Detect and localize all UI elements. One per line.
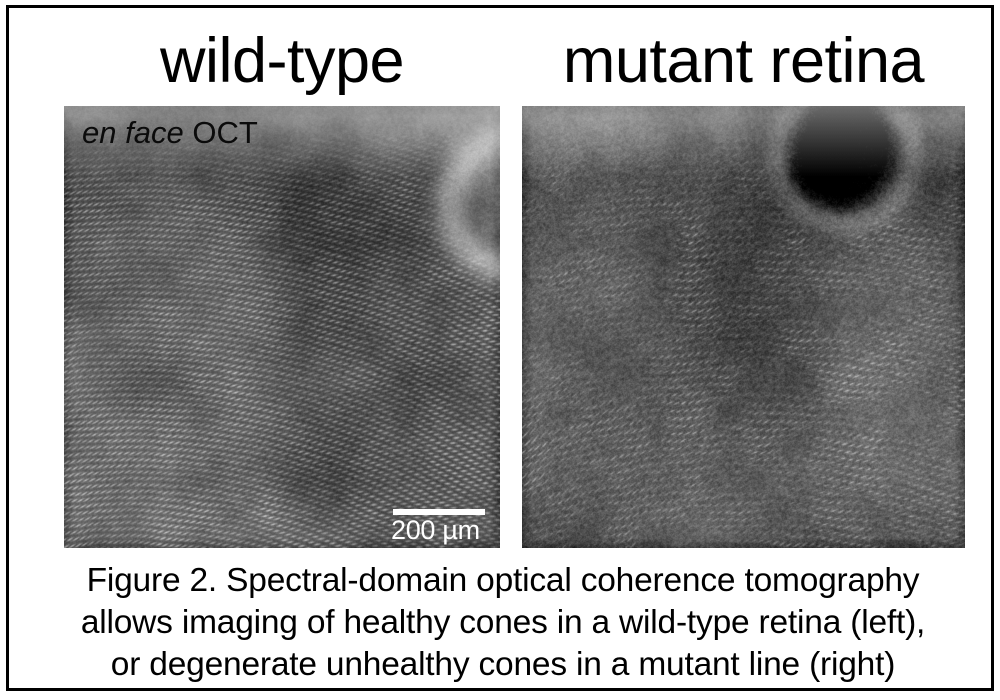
oct-canvas-mutant-retina	[522, 106, 965, 548]
scale-bar-label: 200 µm	[391, 517, 487, 544]
oct-image-wild-type: en face OCT 200 µm	[64, 106, 500, 548]
modality-label-upright: OCT	[192, 115, 257, 150]
caption-line-1: Figure 2. Spectral-domain optical cohere…	[21, 560, 985, 602]
caption-line-3: or degenerate unhealthy cones in a mutan…	[21, 644, 985, 686]
panel-title-mutant-retina: mutant retina	[522, 22, 965, 100]
panel-title-wild-type: wild-type	[64, 22, 500, 100]
figure-caption: Figure 2. Spectral-domain optical cohere…	[21, 560, 985, 686]
oct-canvas-wild-type	[64, 106, 500, 548]
modality-label: en face OCT	[82, 116, 258, 150]
oct-image-mutant-retina	[522, 106, 965, 548]
modality-label-italic: en face	[82, 115, 184, 150]
caption-line-2: allows imaging of healthy cones in a wil…	[21, 602, 985, 644]
scale-bar: 200 µm	[391, 509, 487, 544]
figure-border-frame: wild-type mutant retina en face OCT 200 …	[6, 5, 994, 691]
figure-root: wild-type mutant retina en face OCT 200 …	[0, 0, 1000, 700]
